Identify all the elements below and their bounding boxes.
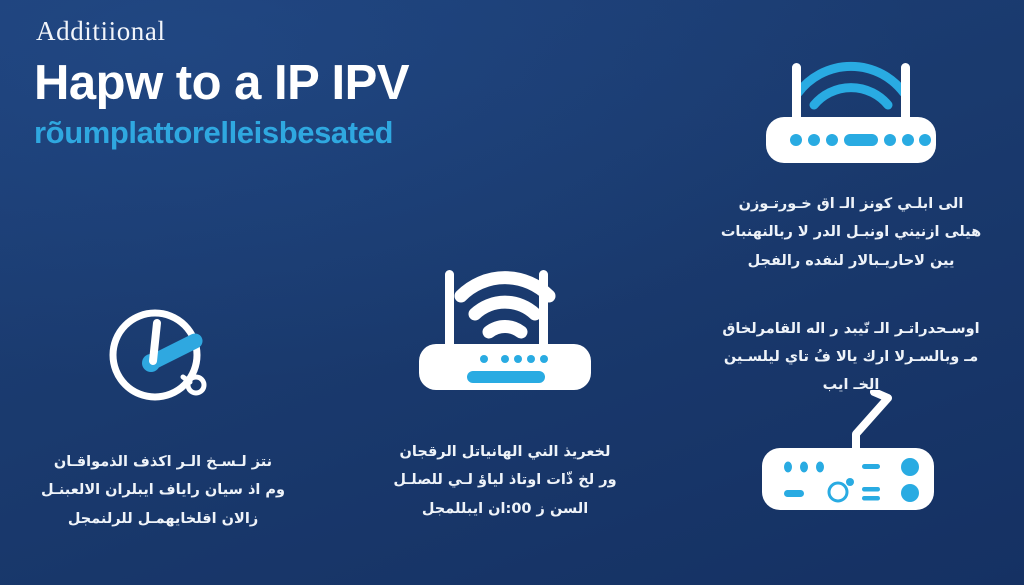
right-bottom-caption: اوسـحدراتـر الـ نّيبد ر اله القامرلخاق م… <box>696 315 1006 400</box>
wifi-router-top-icon-wrap <box>756 48 946 176</box>
middle-caption: لخعريذ الني الهانياتل الرقجان ور لخ ذّات… <box>350 438 660 523</box>
modem-switch-icon-wrap <box>690 390 1012 520</box>
middle-caption-line-1: لخعريذ الني الهانياتل الرقجان <box>350 438 660 466</box>
right-bottom-caption-line-2: مـ وبالسـرلا ارك يالا فُ تاي ليلسـين <box>696 343 1006 371</box>
eyebrow-text: Additiional <box>36 18 594 45</box>
left-caption-line-3: زالان اقلخايهمـل للرلنمجل <box>28 505 298 533</box>
wifi-router-icon-wrap <box>405 240 605 400</box>
infographic-canvas: Additiional Hapw to a IP IPV rõumplattor… <box>0 0 1024 585</box>
right-bottom-caption-line-1: اوسـحدراتـر الـ نّيبد ر اله القامرلخاق <box>696 315 1006 343</box>
column-left: نتز لـسـخ الـر اكذف الذمواقـان وم اذ سيا… <box>18 300 308 533</box>
stopwatch-icon-wrap <box>103 300 223 410</box>
stopwatch-icon <box>103 303 223 407</box>
right-top-caption-line-1: الى ابلـي كونز الـ اق خـورتـوزن <box>696 190 1006 218</box>
modem-switch-icon <box>736 390 966 520</box>
column-middle: لخعريذ الني الهانياتل الرقجان ور لخ ذّات… <box>345 240 665 523</box>
right-top-caption-line-3: يين لاحاريـبالار لنفده رالفجل <box>696 247 1006 275</box>
middle-caption-line-2: ور لخ ذّات اوتاذ لياؤ لـي للصلـل <box>350 466 660 494</box>
column-right: الى ابلـي كونز الـ اق خـورتـوزن هيلى ازن… <box>690 48 1012 520</box>
middle-caption-line-3: السن ز 00:ان ايبللمجل <box>350 495 660 523</box>
header-block: Additiional Hapw to a IP IPV rõumplattor… <box>34 18 594 150</box>
wifi-router-icon <box>405 240 605 400</box>
left-caption-line-2: وم اذ سيان راياف ايبلران الالعبنـل <box>28 476 298 504</box>
wifi-router-icon <box>756 49 946 175</box>
page-title: Hapw to a IP IPV <box>34 59 594 109</box>
page-subtitle: rõumplattorelleisbesated <box>34 117 594 150</box>
right-top-caption-line-2: هيلى ازنيني اونبـل الدر لا ربالنهنبات <box>696 218 1006 246</box>
right-top-caption: الى ابلـي كونز الـ اق خـورتـوزن هيلى ازن… <box>696 190 1006 275</box>
left-caption: نتز لـسـخ الـر اكذف الذمواقـان وم اذ سيا… <box>28 448 298 533</box>
left-caption-line-1: نتز لـسـخ الـر اكذف الذمواقـان <box>28 448 298 476</box>
